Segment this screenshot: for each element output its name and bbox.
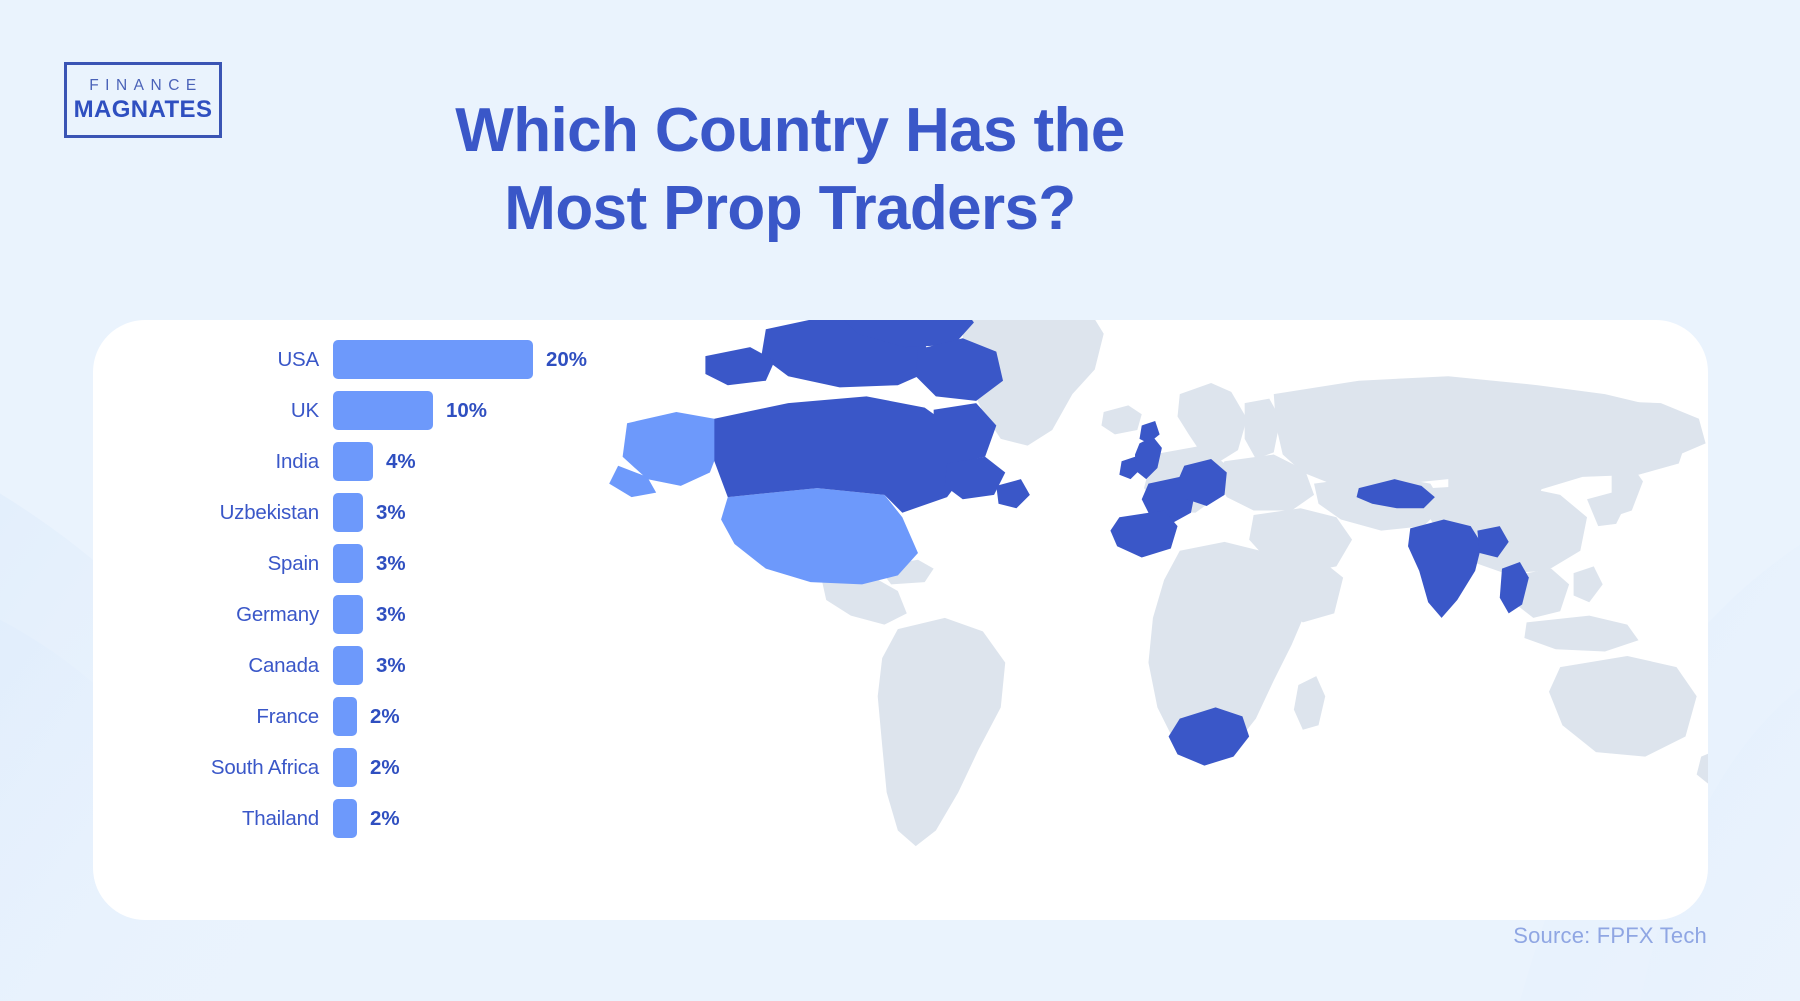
chart-row: Canada 3% — [143, 646, 613, 685]
region-philippines — [1574, 566, 1603, 602]
bar-fill — [333, 748, 357, 787]
bar-fill — [333, 646, 363, 685]
bar-value-label: 2% — [357, 807, 400, 831]
bar-fill — [333, 391, 433, 430]
bar-value-label: 20% — [533, 348, 587, 372]
bar-category-label: USA — [143, 348, 333, 372]
bar-category-label: Canada — [143, 654, 333, 678]
bar-fill — [333, 595, 363, 634]
bar-value-label: 3% — [363, 654, 406, 678]
logo-line-finance: FINANCE — [83, 78, 203, 94]
bar-fill — [333, 442, 373, 481]
country-australia — [1549, 656, 1697, 757]
chart-row: Thailand 2% — [143, 799, 613, 838]
bar-value-label: 10% — [433, 399, 487, 423]
world-map — [598, 320, 1708, 920]
country-new-zealand — [1697, 750, 1708, 784]
bar-value-label: 4% — [373, 450, 416, 474]
bar-fill — [333, 493, 363, 532]
bar-fill — [333, 697, 357, 736]
map-land-group — [822, 320, 1708, 846]
bar-category-label: UK — [143, 399, 333, 423]
bar-value-label: 3% — [363, 501, 406, 525]
bar-value-label: 2% — [357, 756, 400, 780]
continent-south-america — [878, 618, 1006, 846]
country-madagascar — [1294, 676, 1325, 730]
region-scotland — [1140, 421, 1160, 443]
bar-value-label: 3% — [363, 603, 406, 627]
chart-row: UK 10% — [143, 391, 613, 430]
bar-fill — [333, 340, 533, 379]
bar-category-label: India — [143, 450, 333, 474]
bar-value-label: 3% — [363, 552, 406, 576]
chart-row: India 4% — [143, 442, 613, 481]
region-canada-newfoundland — [996, 479, 1030, 508]
chart-row: France 2% — [143, 697, 613, 736]
bar-fill — [333, 544, 363, 583]
page-title: Which Country Has the Most Prop Traders? — [340, 92, 1240, 247]
country-iceland — [1101, 405, 1141, 434]
bar-category-label: Thailand — [143, 807, 333, 831]
region-canada-east — [945, 457, 1005, 500]
page-title-line-1: Which Country Has the — [340, 92, 1240, 170]
chart-row: Germany 3% — [143, 595, 613, 634]
logo-line-magnates: MAGNATES — [74, 98, 213, 122]
bar-chart: USA 20% UK 10% India 4% Uzbekistan 3% Sp… — [143, 340, 613, 850]
country-india — [1408, 519, 1482, 617]
bar-value-label: 2% — [357, 705, 400, 729]
chart-row: Uzbekistan 3% — [143, 493, 613, 532]
chart-row: USA 20% — [143, 340, 613, 379]
country-spain — [1110, 510, 1177, 557]
bar-category-label: Uzbekistan — [143, 501, 333, 525]
page-title-line-2: Most Prop Traders? — [340, 170, 1240, 248]
region-indonesia — [1524, 616, 1638, 652]
bar-category-label: Germany — [143, 603, 333, 627]
chart-row: Spain 3% — [143, 544, 613, 583]
bar-category-label: Spain — [143, 552, 333, 576]
chart-row: South Africa 2% — [143, 748, 613, 787]
world-map-svg — [598, 320, 1708, 920]
finance-magnates-logo: FINANCE MAGNATES — [64, 62, 222, 138]
bar-fill — [333, 799, 357, 838]
bar-category-label: South Africa — [143, 756, 333, 780]
content-card: USA 20% UK 10% India 4% Uzbekistan 3% Sp… — [93, 320, 1708, 920]
country-usa — [721, 488, 918, 584]
bar-category-label: France — [143, 705, 333, 729]
source-attribution: Source: FPFX Tech — [1513, 923, 1707, 949]
